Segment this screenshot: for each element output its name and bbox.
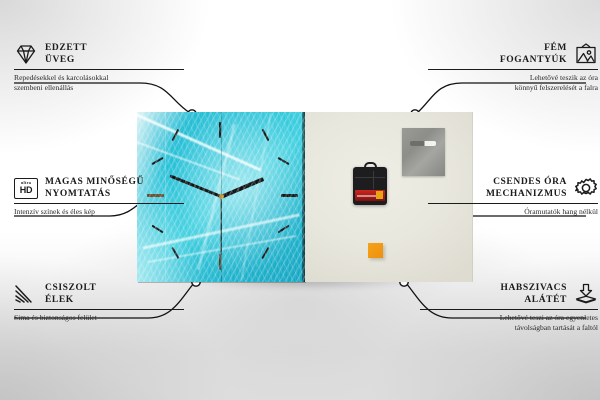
polished-edges-icon (14, 283, 38, 305)
feature-tempered-glass: EDZETT ÜVEG Repedésekkel és karcolásokka… (14, 42, 184, 92)
feature-title-line1: CSENDES ÓRA (486, 176, 567, 188)
metal-hanger (402, 128, 445, 176)
picture-hanger-icon (574, 43, 598, 65)
feature-title-line2: ÜVEG (45, 54, 87, 66)
feature-title-line2: NYOMTATÁS (45, 188, 144, 200)
feature-desc-line2: szembeni ellenállás (14, 83, 184, 93)
feature-metal-handles: FÉM FOGANTYÚK Lehetővé teszik az óra kön… (428, 42, 598, 92)
feature-title-line2: FOGANTYÚK (500, 54, 567, 66)
divider (420, 309, 598, 310)
clock-hub (219, 194, 224, 199)
feature-title-line2: ÉLEK (45, 294, 96, 306)
feature-desc-line2: könnyű felszerelését a falra (428, 83, 598, 93)
feature-title-line2: ALÁTÉT (500, 294, 567, 306)
feature-desc-line1: Intenzív színek és éles kép (14, 207, 184, 217)
feature-desc-line1: Lehetővé teszik az óra (428, 73, 598, 83)
clock-second-hand (220, 197, 221, 255)
divider (14, 203, 184, 204)
gear-icon (574, 177, 598, 199)
foam-pad-arrow-icon (574, 283, 598, 305)
feature-desc-line1: Lehetővé teszi az óra egyenletes (420, 313, 598, 323)
clock-tick-6 (219, 254, 221, 270)
feature-desc-line1: Sima és biztonságos felület (14, 313, 184, 323)
ultra-hd-label: HD (20, 186, 33, 195)
feature-title-line1: MAGAS MINŐSÉGŰ (45, 176, 144, 188)
clock-tick-11 (172, 129, 180, 141)
infographic-canvas: EDZETT ÜVEG Repedésekkel és karcolásokka… (0, 0, 600, 400)
feature-silent-mechanism: CSENDES ÓRA MECHANIZMUS Óramutatók hang … (428, 176, 598, 217)
clock-tick-12 (219, 122, 221, 138)
feature-foam-pad: HABSZIVACS ALÁTÉT Lehetővé teszi az óra … (420, 282, 598, 332)
feature-title-line1: FÉM (500, 42, 567, 54)
feature-title-line1: HABSZIVACS (500, 282, 567, 294)
feature-desc-line1: Óramutatók hang nélkül (428, 207, 598, 217)
feature-desc-line1: Repedésekkel és karcolásokkal (14, 73, 184, 83)
feature-title-line1: CSISZOLT (45, 282, 96, 294)
clock-hour-hand (220, 177, 264, 198)
ultra-hd-icon: ultra HD (14, 178, 38, 199)
clock-tick-8 (151, 225, 163, 234)
battery (355, 190, 385, 201)
clock-tick-3 (281, 194, 298, 197)
divider (14, 69, 184, 70)
feature-polished-edges: CSISZOLT ÉLEK Sima és biztonságos felüle… (14, 282, 184, 323)
feature-desc-line2: távolságban tartását a faltól (420, 323, 598, 333)
clock-mechanism (353, 167, 387, 205)
diamond-icon (14, 43, 38, 65)
clock-tick-4 (277, 225, 289, 234)
clock-tick-1 (262, 129, 270, 141)
product-image (137, 112, 473, 282)
feature-high-quality-print: ultra HD MAGAS MINŐSÉGŰ NYOMTATÁS Intenz… (14, 176, 184, 217)
clock-tick-2 (277, 157, 289, 165)
foam-pad (368, 243, 383, 258)
divider (14, 309, 184, 310)
feature-title-line1: EDZETT (45, 42, 87, 54)
divider (428, 203, 598, 204)
clock-tick-10 (151, 157, 163, 165)
divider (428, 69, 598, 70)
clock-tick-5 (261, 247, 269, 259)
clock-tick-7 (171, 247, 179, 259)
feature-title-line2: MECHANIZMUS (486, 188, 567, 200)
